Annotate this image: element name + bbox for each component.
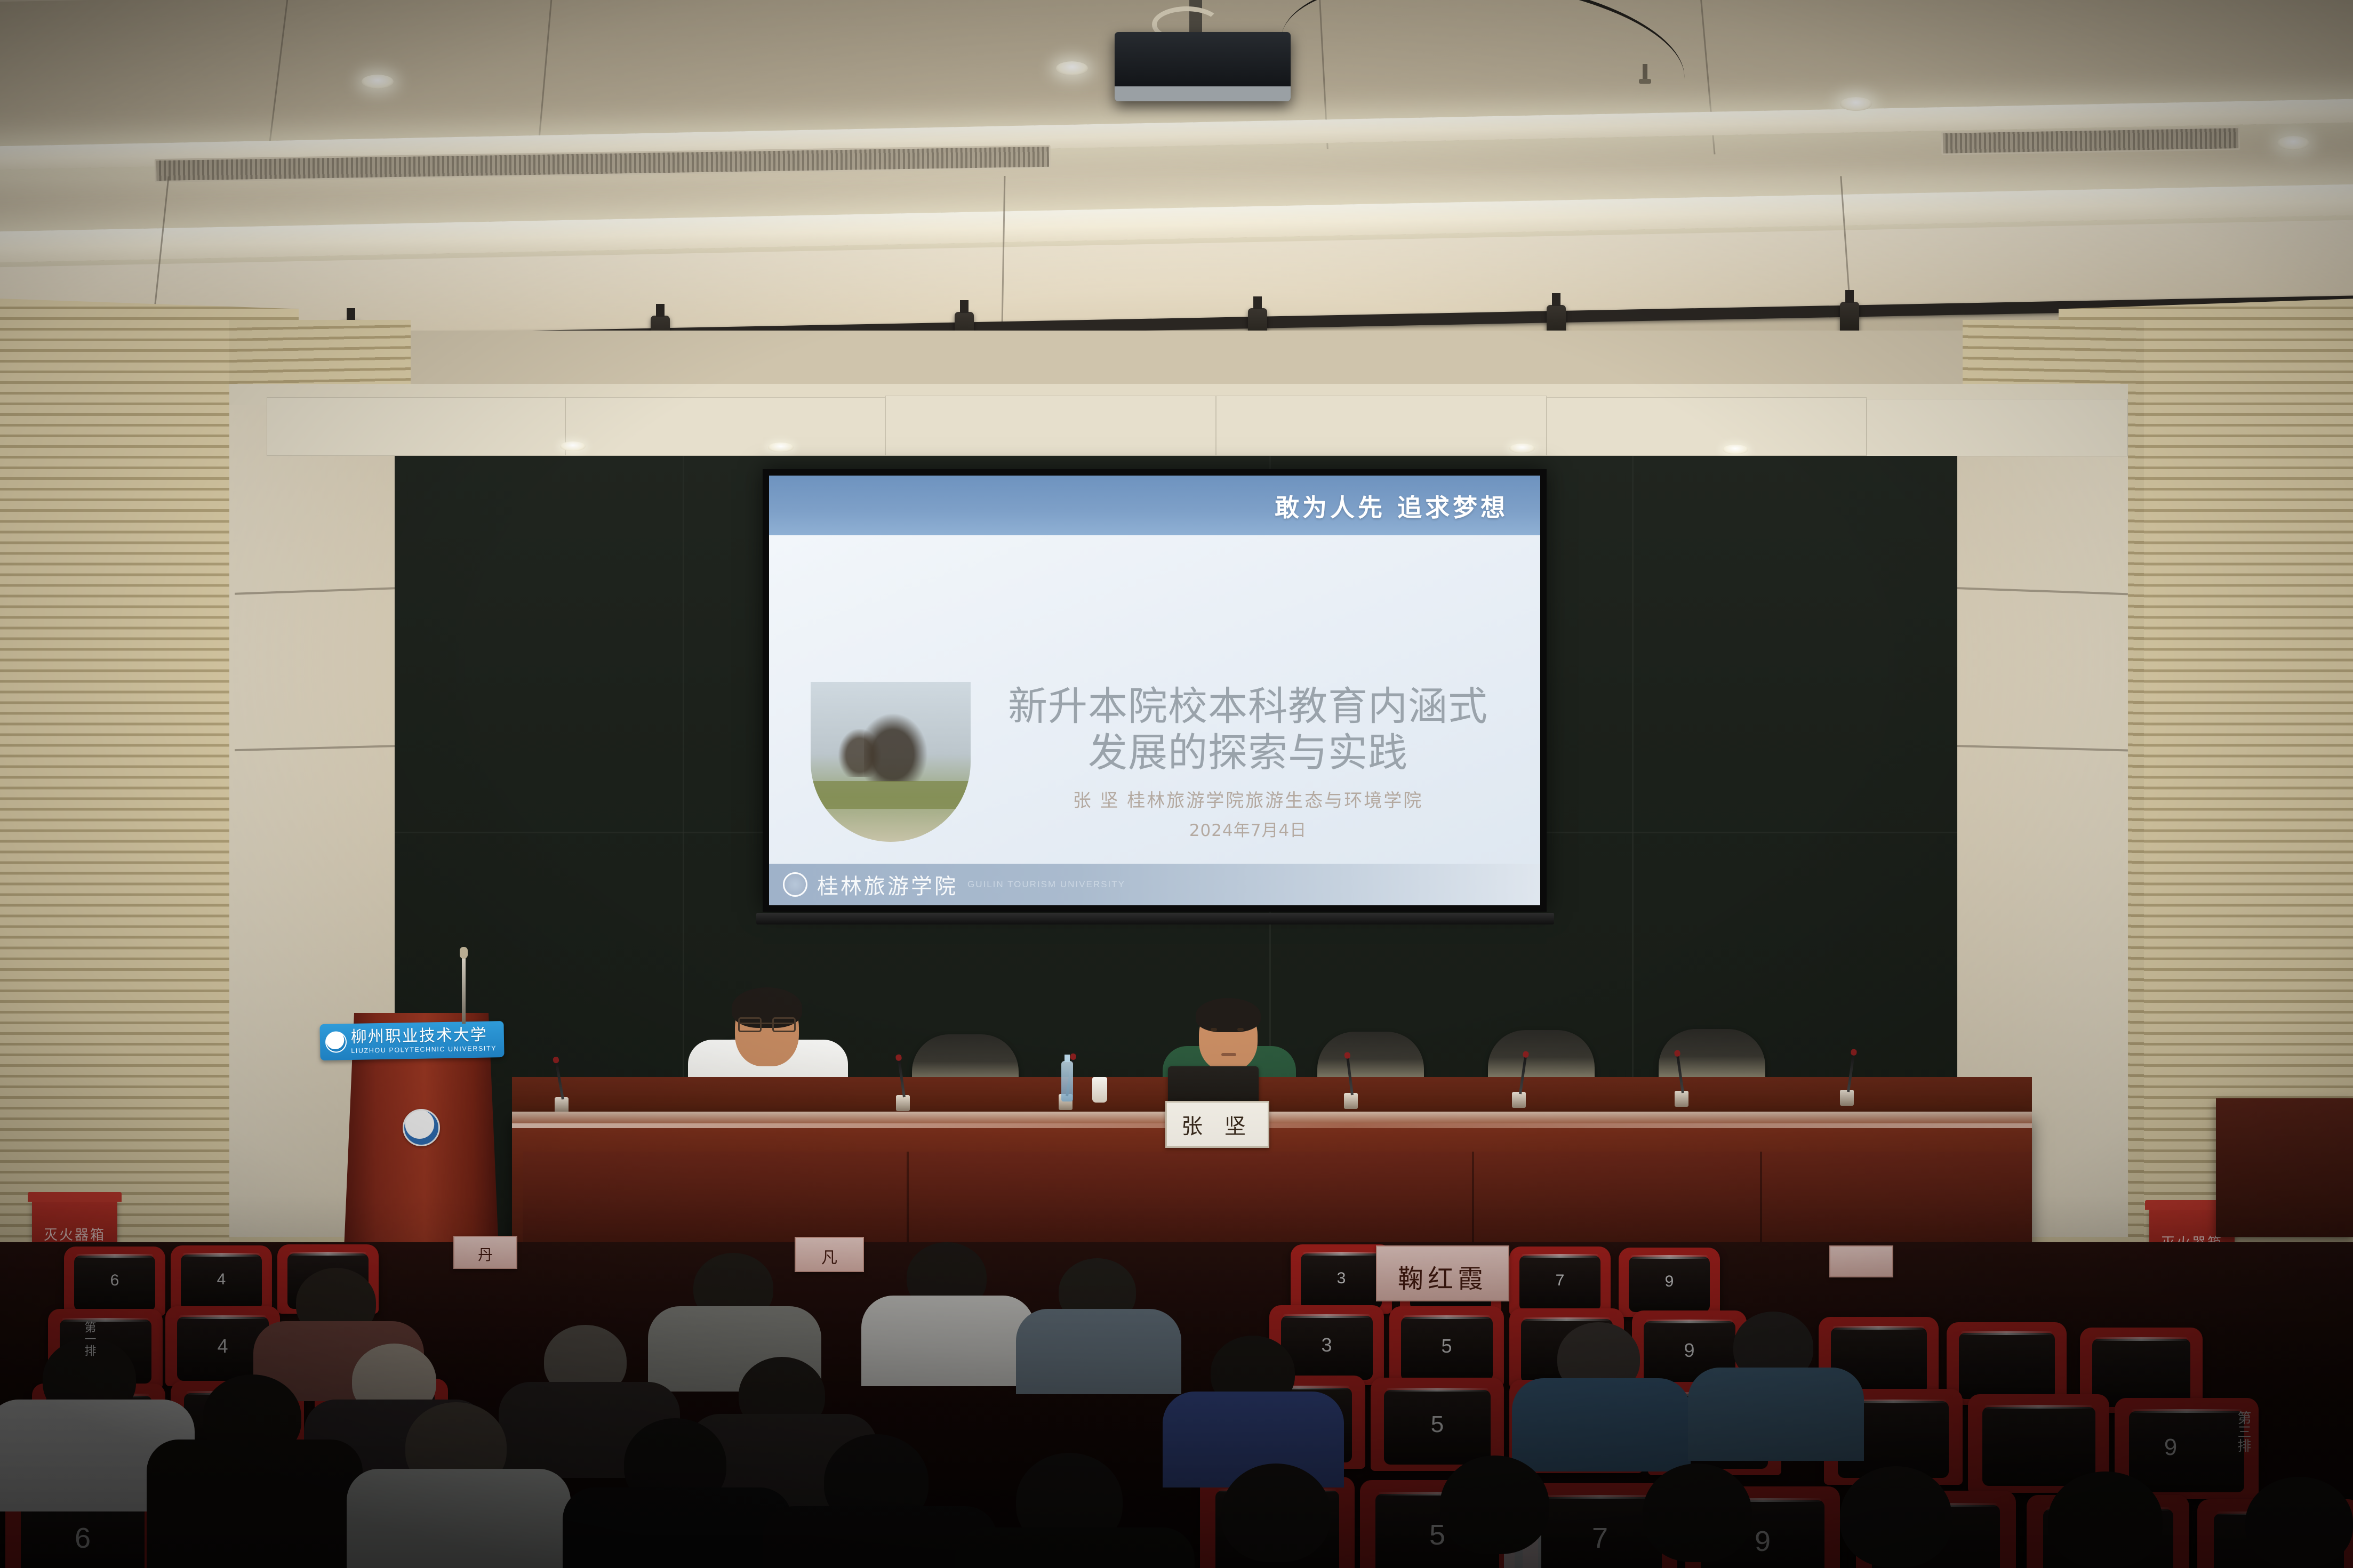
slide-body: 新升本院校本科教育内涵式 发展的探索与实践 张 坚 桂林旅游学院旅游生态与环境学…: [769, 535, 1540, 864]
seat[interactable]: [1947, 1322, 2067, 1405]
front-nameplate: 丹: [453, 1236, 517, 1269]
screen-bottom-bar: [756, 913, 1554, 924]
audience-head: [2245, 1477, 2353, 1568]
audience-head: [2048, 1471, 2163, 1568]
audience-head: [1221, 1464, 1331, 1562]
audience-head: [1840, 1466, 1952, 1567]
ceiling-panel: [267, 397, 565, 456]
stage-downlight: [1723, 445, 1748, 454]
audience-shoulders: [1512, 1378, 1691, 1471]
lectern-microphone: [462, 954, 466, 1024]
lectern-sign: 柳州职业技术大学 LIUZHOU POLYTECHNIC UNIVERSITY: [319, 1021, 504, 1060]
seat-number: 4: [171, 1271, 272, 1289]
ceiling-projector: [1115, 32, 1291, 101]
seat[interactable]: 7: [1509, 1247, 1611, 1316]
slide-footer: 桂林旅游学院 GUILIN TOURISM UNIVERSITY: [769, 864, 1540, 905]
seat-number: 6: [64, 1272, 165, 1290]
audience-shoulders: [1688, 1368, 1864, 1461]
seat-number: 9: [1619, 1273, 1720, 1291]
microphone-base: [1675, 1091, 1688, 1107]
microphone-base: [1344, 1093, 1358, 1109]
audience-shoulders: [147, 1440, 363, 1568]
microphone-base: [1840, 1090, 1854, 1106]
ceiling-panel: [885, 396, 1216, 456]
air-vent: [1941, 126, 2240, 155]
row-label-left: 第一排: [83, 1321, 94, 1356]
university-seal-icon: [783, 872, 807, 897]
front-nameplate: 凡: [795, 1237, 864, 1272]
seat-number: 7: [1509, 1272, 1611, 1290]
seat[interactable]: 9: [1619, 1248, 1720, 1317]
audience-head: [1643, 1464, 1752, 1562]
row-label-right: 第三排: [2236, 1411, 2250, 1452]
slide-title: 新升本院校本科教育内涵式 发展的探索与实践: [977, 684, 1519, 777]
slide-banner-text: 敢为人先 追求梦想: [1275, 488, 1508, 524]
slide-date: 2024年7月4日: [977, 817, 1519, 841]
seat[interactable]: 5: [1389, 1306, 1504, 1386]
projection-screen-frame: 敢为人先 追求梦想 新升本院校本科教育内涵式 发展的探索与实践 张 坚 桂林旅游…: [763, 469, 1547, 912]
seat-number: 5: [1389, 1335, 1504, 1357]
slide-title-line-2: 发展的探索与实践: [977, 730, 1519, 776]
ceiling-panel: [565, 397, 885, 456]
microphone-base: [1512, 1092, 1526, 1108]
paper-cup: [1092, 1077, 1107, 1103]
ceiling-panel: [1867, 399, 2128, 456]
auditorium-photo: 敢为人先 追求梦想 新升本院校本科教育内涵式 发展的探索与实践 张 坚 桂林旅游…: [0, 0, 2353, 1568]
university-seal-icon: [403, 1109, 440, 1146]
downlight: [1840, 97, 1872, 111]
nameplate-center: 张 坚: [1165, 1101, 1269, 1148]
seat[interactable]: 4: [171, 1245, 272, 1315]
lectern-sign-en: LIUZHOU POLYTECHNIC UNIVERSITY: [351, 1045, 497, 1054]
stage-downlight: [1509, 444, 1535, 453]
head-table-highlight: [512, 1123, 2032, 1128]
downlight: [362, 75, 394, 89]
lectern-sign-cn: 柳州职业技术大学: [351, 1027, 497, 1046]
head-table-lip: [512, 1112, 2032, 1123]
slide-banner: 敢为人先 追求梦想: [769, 476, 1540, 535]
seat-number: 5: [1371, 1411, 1504, 1438]
slide-title-line-1: 新升本院校本科教育内涵式: [977, 684, 1519, 730]
audience-shoulders: [347, 1469, 571, 1568]
seat-number: 9: [1632, 1339, 1747, 1362]
fire-box-label-left: 灭火器箱: [32, 1224, 117, 1244]
slide-author: 张 坚 桂林旅游学院旅游生态与环境学院: [977, 786, 1519, 812]
slide-footer-org-cn: 桂林旅游学院: [817, 869, 958, 900]
water-bottle: [1061, 1061, 1073, 1101]
audience-shoulders: [955, 1527, 1195, 1568]
downlight: [1056, 61, 1088, 75]
seat[interactable]: 6: [64, 1247, 165, 1316]
audience-shoulders: [563, 1487, 792, 1568]
audience-area: 6 4 2 3 5 7 9 6 4 3 5 7 9 6 4 2 3 5 7 9 …: [0, 1242, 2353, 1568]
slide-footer-org-en: GUILIN TOURISM UNIVERSITY: [967, 879, 1125, 890]
audience-shoulders: [861, 1296, 1035, 1386]
head-table-rear-edge: [512, 1077, 2032, 1116]
ceiling-panel: [1547, 397, 1867, 456]
microphone-base: [896, 1095, 910, 1111]
horse-statue-shape: [838, 729, 881, 777]
downlight: [2277, 136, 2309, 150]
audience-shoulders: [1016, 1309, 1181, 1394]
front-nameplate: [1829, 1245, 1893, 1277]
university-seal-icon: [325, 1031, 347, 1053]
seat-number: 6: [5, 1522, 160, 1555]
microphone-base: [555, 1097, 569, 1113]
hedge-shape: [811, 781, 971, 809]
side-console: [2216, 1098, 2353, 1237]
slide-photo: [811, 682, 971, 842]
stage-downlight: [768, 443, 794, 452]
stage-downlight: [560, 441, 586, 451]
floor-nameplate: 鞠红霞: [1376, 1245, 1509, 1301]
ceiling-panel: [1216, 396, 1547, 456]
seat-number: 9: [2083, 1434, 2259, 1461]
audience-head: [1440, 1456, 1549, 1554]
projection-screen: 敢为人先 追求梦想 新升本院校本科教育内涵式 发展的探索与实践 张 坚 桂林旅游…: [769, 476, 1540, 905]
